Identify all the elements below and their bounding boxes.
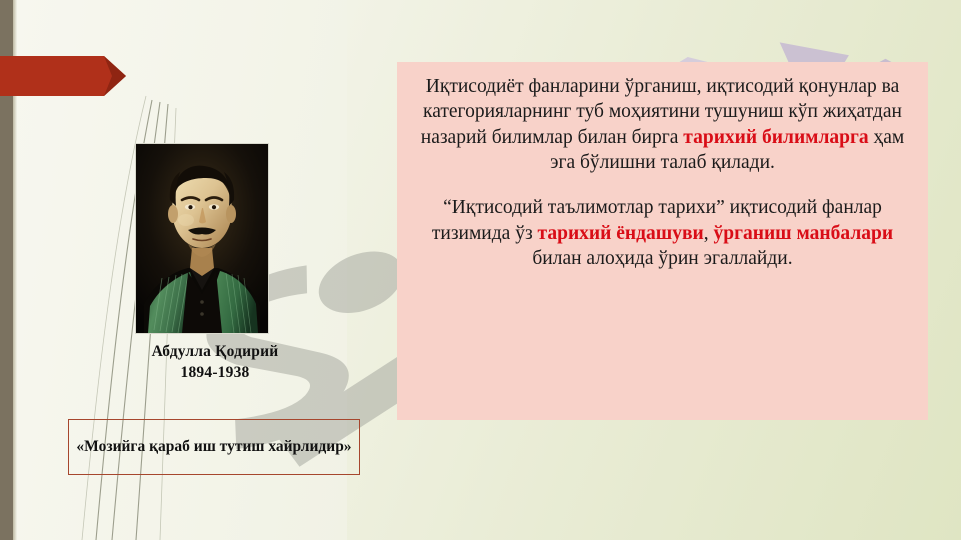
avatar <box>136 144 268 333</box>
body-text-panel: Иқтисодиёт фанларини ўрганиш, иқтисодий … <box>397 62 928 420</box>
slide-canvas: Абдулла Қодирий 1894-1938 «Мозийга қараб… <box>0 0 961 540</box>
p2-highlight-2: ўрганиш манбалари <box>714 223 894 244</box>
paragraph-2: “Иқтисодий таълимотлар тарихи” иқтисодий… <box>411 195 914 271</box>
p2-highlight-1: тарихий ёндашуви <box>538 223 704 244</box>
red-arrow-banner <box>0 56 126 96</box>
portrait-caption: Абдулла Қодирий 1894-1938 <box>70 341 360 384</box>
p1-highlight-1: тарихий билимларга <box>683 127 868 148</box>
paragraph-1: Иқтисодиёт фанларини ўрганиш, иқтисодий … <box>411 74 914 175</box>
p2-part3: билан алоҳида ўрин эгаллайди. <box>532 248 792 269</box>
quote-text: «Мозийга қараб иш тутиш хайрлидир» <box>70 437 357 457</box>
caption-name: Абдулла Қодирий <box>70 341 360 362</box>
p2-part2: , <box>704 223 714 244</box>
caption-years: 1894-1938 <box>70 362 360 383</box>
quote-box: «Мозийга қараб иш тутиш хайрлидир» <box>68 419 360 475</box>
